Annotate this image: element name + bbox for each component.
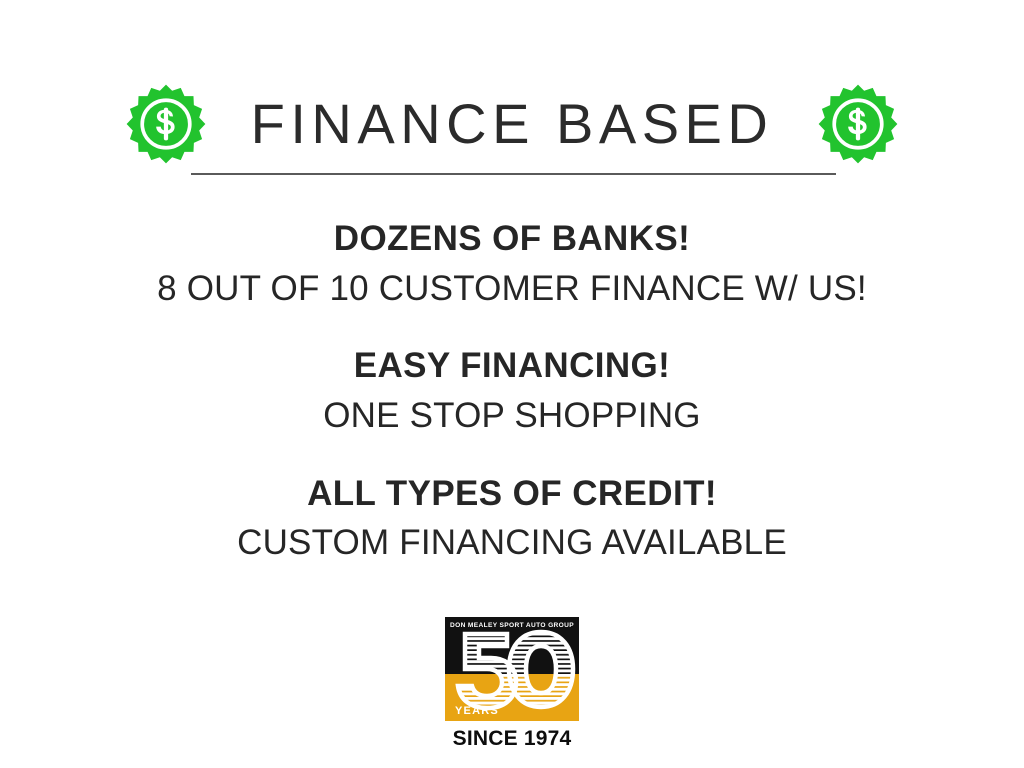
copy-headline: DOZENS OF BANKS! (0, 214, 1024, 264)
copy-group-credit: ALL TYPES OF CREDIT! CUSTOM FINANCING AV… (0, 469, 1024, 568)
brand-name: DON MEALEY SPORT AUTO GROUP (445, 622, 579, 629)
money-gear-icon (817, 83, 899, 165)
title-divider (191, 173, 836, 175)
page-title: FINANCE BASED (251, 96, 774, 152)
since-label: SINCE 1974 (445, 727, 579, 751)
copy-headline: EASY FINANCING! (0, 341, 1024, 391)
money-gear-icon (125, 83, 207, 165)
copy-headline: ALL TYPES OF CREDIT! (0, 469, 1024, 519)
fifty-numeral-icon (445, 628, 579, 711)
anniversary-badge: DON MEALEY SPORT AUTO GROUP (445, 617, 579, 721)
copy-group-banks: DOZENS OF BANKS! 8 OUT OF 10 CUSTOMER FI… (0, 214, 1024, 313)
slide-header: FINANCE BASED (0, 74, 1024, 174)
years-label: YEARS (455, 705, 499, 717)
dealer-logo: DON MEALEY SPORT AUTO GROUP (445, 617, 579, 751)
copy-subline: ONE STOP SHOPPING (0, 391, 1024, 441)
copy-subline: CUSTOM FINANCING AVAILABLE (0, 518, 1024, 568)
body-copy: DOZENS OF BANKS! 8 OUT OF 10 CUSTOMER FI… (0, 214, 1024, 568)
copy-subline: 8 OUT OF 10 CUSTOMER FINANCE W/ US! (0, 264, 1024, 314)
finance-based-slide: FINANCE BASED DOZENS OF BANKS! 8 OUT OF … (0, 0, 1024, 768)
copy-group-financing: EASY FINANCING! ONE STOP SHOPPING (0, 341, 1024, 440)
